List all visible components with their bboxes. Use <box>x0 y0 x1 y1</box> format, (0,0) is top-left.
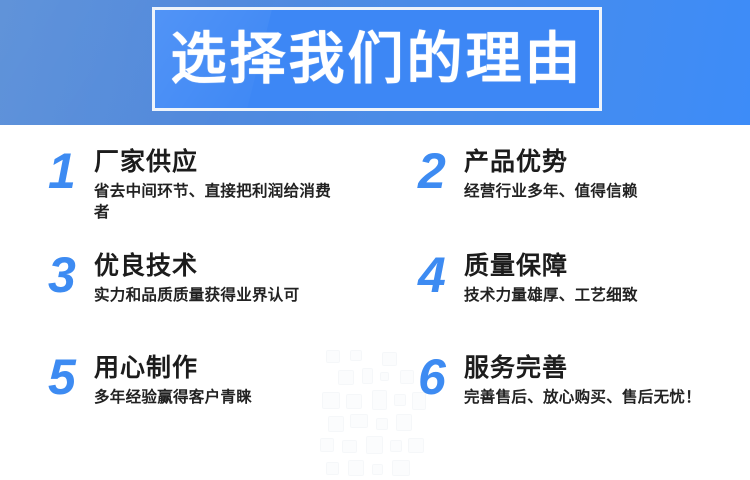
reason-title-3: 优良技术 <box>94 251 299 281</box>
reason-item-2: 2 产品优势 经营行业多年、值得信赖 <box>418 145 638 202</box>
reason-desc-5: 多年经验赢得客户青睐 <box>94 387 252 408</box>
reason-text-block-1: 厂家供应 省去中间环节、直接把利润给消费者 <box>94 145 344 223</box>
reason-item-4: 4 质量保障 技术力量雄厚、工艺细致 <box>418 249 638 306</box>
reason-text-block-5: 用心制作 多年经验赢得客户青睐 <box>94 351 252 408</box>
reasons-grid: 1 厂家供应 省去中间环节、直接把利润给消费者 2 产品优势 经营行业多年、值得… <box>0 125 750 480</box>
reason-desc-1: 省去中间环节、直接把利润给消费者 <box>94 181 344 223</box>
reason-item-3: 3 优良技术 实力和品质质量获得业界认可 <box>48 249 299 306</box>
reason-desc-6: 完善售后、放心购买、售后无忧！ <box>464 387 701 408</box>
reason-text-block-6: 服务完善 完善售后、放心购买、售后无忧！ <box>464 351 701 408</box>
banner-title-box: 选择我们的理由 <box>152 7 602 111</box>
reason-number-1: 1 <box>48 145 94 197</box>
reason-number-6: 6 <box>418 351 464 403</box>
reason-number-2: 2 <box>418 145 464 197</box>
reason-number-4: 4 <box>418 249 464 301</box>
reason-title-5: 用心制作 <box>94 353 252 383</box>
reason-title-1: 厂家供应 <box>94 147 344 177</box>
page-title: 选择我们的理由 <box>171 31 584 87</box>
reason-text-block-4: 质量保障 技术力量雄厚、工艺细致 <box>464 249 638 306</box>
reason-desc-4: 技术力量雄厚、工艺细致 <box>464 285 638 306</box>
reason-number-3: 3 <box>48 249 94 301</box>
reason-text-block-2: 产品优势 经营行业多年、值得信赖 <box>464 145 638 202</box>
reason-title-6: 服务完善 <box>464 353 701 383</box>
reason-item-1: 1 厂家供应 省去中间环节、直接把利润给消费者 <box>48 145 344 223</box>
reasons-section: 1 厂家供应 省去中间环节、直接把利润给消费者 2 产品优势 经营行业多年、值得… <box>0 125 750 480</box>
reason-number-5: 5 <box>48 351 94 403</box>
reason-title-4: 质量保障 <box>464 251 638 281</box>
reason-title-2: 产品优势 <box>464 147 638 177</box>
reason-text-block-3: 优良技术 实力和品质质量获得业界认可 <box>94 249 299 306</box>
reason-desc-2: 经营行业多年、值得信赖 <box>464 181 638 202</box>
reason-item-5: 5 用心制作 多年经验赢得客户青睐 <box>48 351 252 408</box>
header-banner: 选择我们的理由 <box>0 0 750 125</box>
reason-desc-3: 实力和品质质量获得业界认可 <box>94 285 299 306</box>
reason-item-6: 6 服务完善 完善售后、放心购买、售后无忧！ <box>418 351 701 408</box>
promo-page: 选择我们的理由 1 厂家供应 省去中间环节、直接把利润给消费者 2 产品优势 经… <box>0 0 750 480</box>
